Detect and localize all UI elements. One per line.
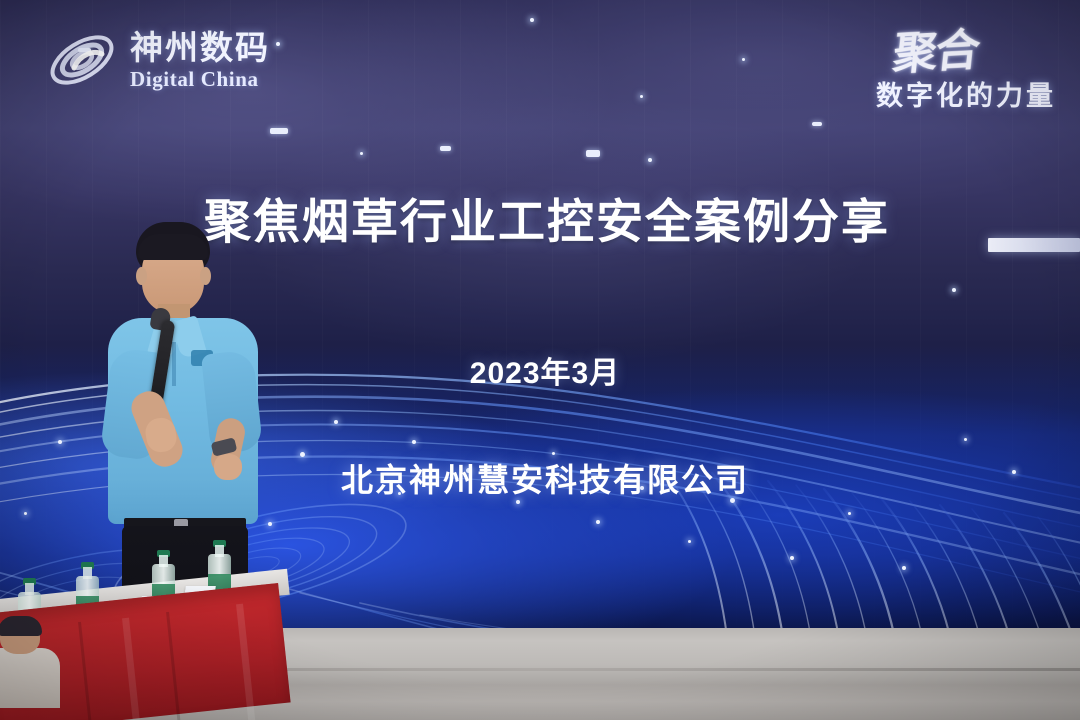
seated-audience-member [0,620,68,720]
speaker-ear-left [136,267,147,285]
speaker-hand-right [214,454,242,480]
brand-name-chinese: 神州数码 [130,31,270,64]
digital-china-logo: 神州数码 Digital China [44,18,314,102]
juhe-event-logo: 聚合 数字化的力量 [788,16,1056,116]
event-calligraphy: 聚合 [890,14,981,82]
screen-edge-highlight [988,238,1080,252]
speaker-shirt-placket [172,342,176,386]
brand-name-english: Digital China [130,69,270,90]
conference-stage-scene: 神州数码 Digital China 聚合 数字化的力量 聚焦烟草行业工控安全案… [0,0,1080,720]
speaker-ear-right [200,267,211,285]
speaker-hair-front [138,234,208,260]
digital-china-wordmark: 神州数码 Digital China [130,31,270,90]
spiral-swirl-icon [44,24,120,96]
